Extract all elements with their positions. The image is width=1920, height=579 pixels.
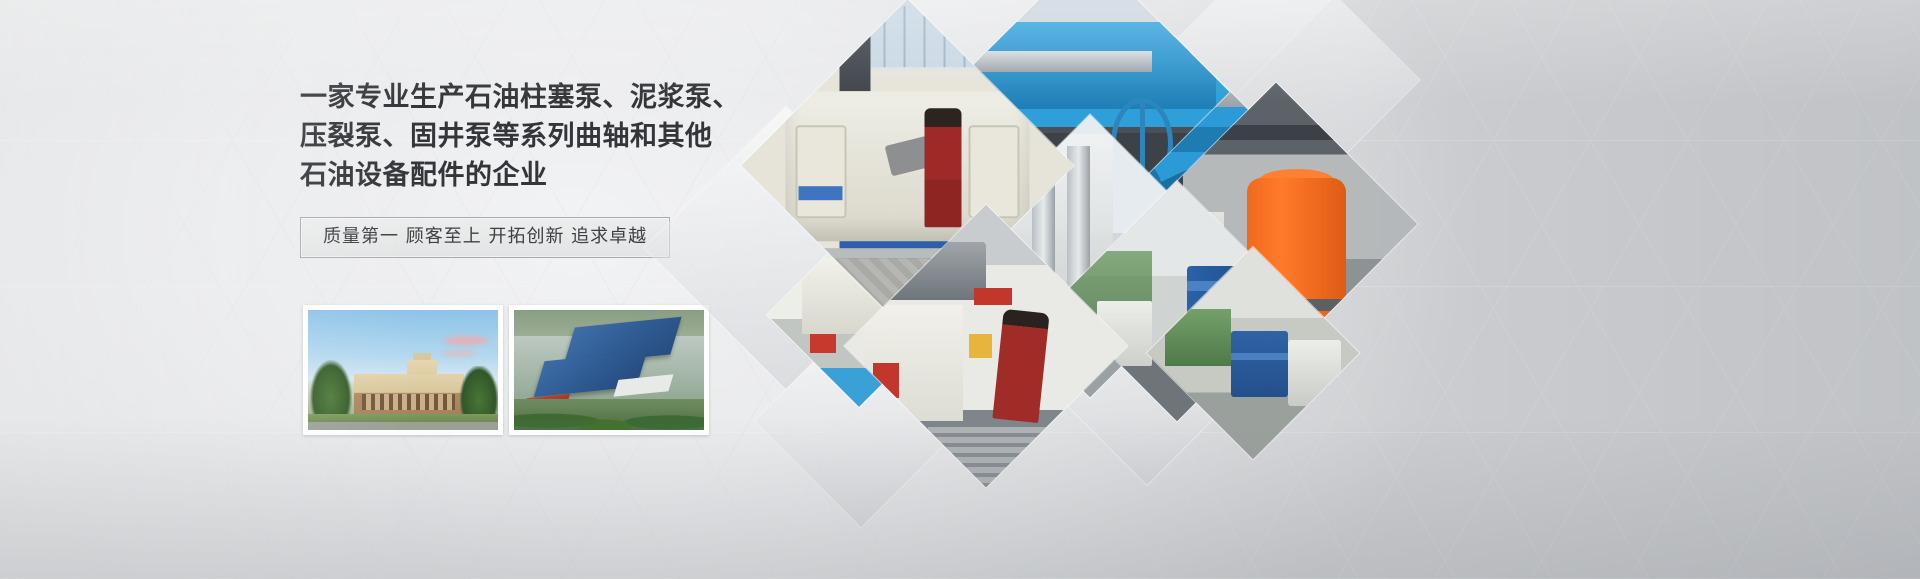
slogan-text: 质量第一 顾客至上 开拓创新 追求卓越 bbox=[323, 227, 647, 247]
hero-banner: 一家专业生产石油柱塞泵、泥浆泵、 压裂泵、固井泵等系列曲轴和其他 石油设备配件的… bbox=[0, 0, 1920, 579]
blue-barrel-shape bbox=[1231, 331, 1288, 397]
banner-copy: 一家专业生产石油柱塞泵、泥浆泵、 压裂泵、固井泵等系列曲轴和其他 石油设备配件的… bbox=[300, 78, 720, 258]
office-building-photo[interactable] bbox=[308, 310, 498, 430]
diamond-photo-collage bbox=[690, 28, 1310, 408]
machine-door-left-shape bbox=[795, 125, 847, 217]
factory-aerial-photo-frame[interactable] bbox=[509, 305, 709, 435]
thumbnail-row bbox=[303, 305, 709, 435]
banner-headline: 一家专业生产石油柱塞泵、泥浆泵、 压裂泵、固井泵等系列曲轴和其他 石油设备配件的… bbox=[300, 78, 720, 195]
worker-figure-shape bbox=[992, 309, 1050, 423]
machine-label-shape bbox=[799, 187, 843, 201]
white-tank-shape bbox=[1288, 340, 1341, 406]
red-label-shape bbox=[810, 334, 837, 353]
worker-figure-shape bbox=[925, 108, 962, 227]
factory-aerial-photo[interactable] bbox=[514, 310, 704, 430]
building-shape bbox=[354, 374, 464, 418]
greenery-shape bbox=[514, 399, 704, 430]
headline-line-1: 一家专业生产石油柱塞泵、泥浆泵、 bbox=[300, 78, 720, 117]
machine-column-shape bbox=[840, 3, 871, 91]
red-sign-shape bbox=[974, 288, 1012, 305]
lathe-shaft-shape bbox=[972, 51, 1152, 71]
headline-line-3: 石油设备配件的企业 bbox=[300, 156, 720, 195]
headline-line-2: 压裂泵、固井泵等系列曲轴和其他 bbox=[300, 117, 720, 156]
cloud-shape bbox=[444, 336, 488, 345]
stairs-shape bbox=[928, 427, 1079, 487]
road-shape bbox=[308, 422, 498, 430]
machine-door-right-shape bbox=[968, 125, 1020, 217]
yellow-part-shape bbox=[969, 334, 992, 357]
tree-left-shape bbox=[310, 360, 352, 422]
office-building-photo-frame[interactable] bbox=[303, 305, 503, 435]
cloud-shape-2 bbox=[442, 350, 476, 357]
slogan-box: 质量第一 顾客至上 开拓创新 追求卓越 bbox=[300, 217, 670, 258]
